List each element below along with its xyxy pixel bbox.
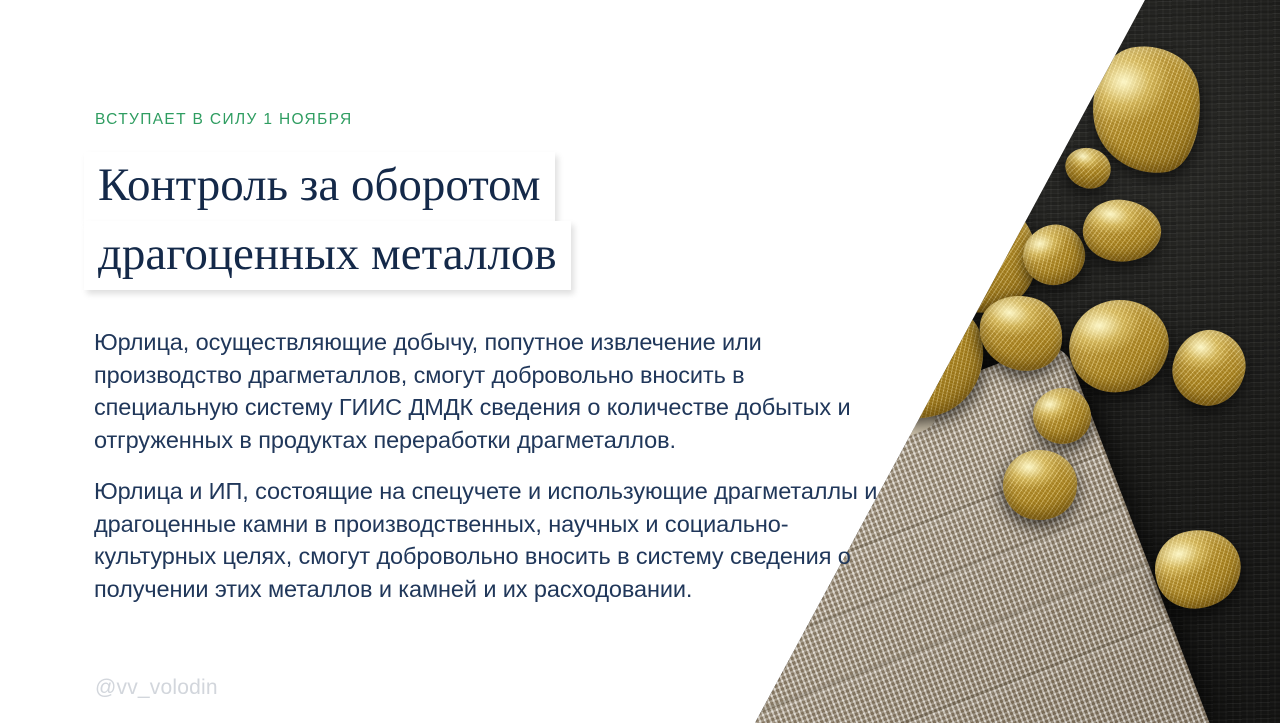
page-title-line-1: Контроль за оборотом bbox=[84, 152, 555, 221]
body-text: Юрлица, осуществляющие добычу, попутное … bbox=[94, 326, 894, 605]
page-title-line-2: драгоценных металлов bbox=[84, 221, 571, 290]
effective-date-label: ВСТУПАЕТ В СИЛУ 1 НОЯБРЯ bbox=[95, 111, 353, 129]
slide: ВСТУПАЕТ В СИЛУ 1 НОЯБРЯ Контроль за обо… bbox=[0, 0, 1280, 723]
body-paragraph-2: Юрлица и ИП, состоящие на спецучете и ис… bbox=[94, 475, 894, 605]
author-handle-watermark: @vv_volodin bbox=[95, 676, 218, 700]
body-paragraph-1: Юрлица, осуществляющие добычу, попутное … bbox=[94, 326, 894, 456]
page-title: Контроль за оборотом драгоценных металло… bbox=[84, 152, 764, 290]
